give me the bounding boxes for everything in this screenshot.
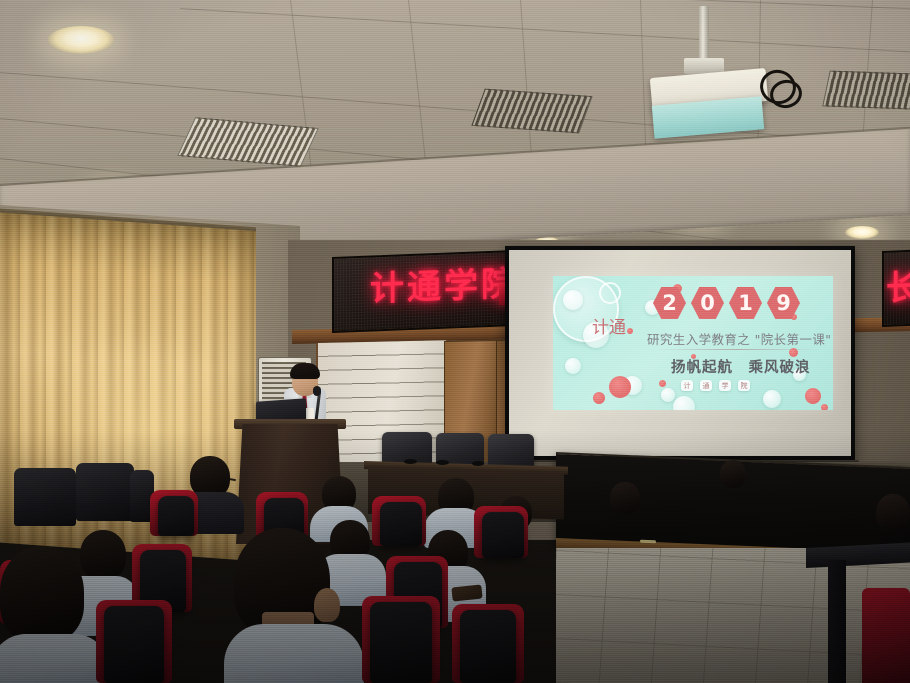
audience-seat-foreground (460, 610, 516, 683)
audience-head (876, 494, 910, 532)
led-banner-right-text: 长 (886, 260, 910, 310)
ceiling-downlight (845, 226, 879, 239)
ceiling-air-grille (471, 89, 592, 134)
slide-dot: 学 (719, 380, 731, 391)
year-digit: 9 (767, 286, 800, 320)
ceiling-air-grille (822, 71, 910, 110)
year-digit: 2 (653, 286, 686, 320)
back-row-chair (76, 463, 134, 521)
audience-head (610, 482, 640, 514)
year-digit: 1 (729, 286, 762, 320)
audience-seat (158, 496, 194, 536)
auditorium-photo: 计通学院20 长 计通 2 0 1 9 (0, 0, 910, 683)
slide-divider (657, 349, 817, 350)
college-logo-text: 计通 (591, 316, 627, 340)
slide-dot: 院 (738, 380, 750, 391)
projector-mount-rod (699, 6, 709, 60)
slide-subtitle: 研究生入学教育之 "院长第一课" (647, 329, 827, 348)
side-seat (862, 588, 910, 683)
side-desk-leg (828, 560, 846, 683)
tiled-floor (556, 548, 910, 683)
slide-dot: 计 (681, 380, 693, 391)
audience-head-foreground (0, 546, 84, 642)
ceiling-downlight (48, 26, 114, 54)
slide-dot: 通 (700, 380, 712, 391)
led-banner-right: 长 (882, 250, 910, 327)
year-digit: 0 (691, 286, 724, 320)
audience-seat-foreground (104, 606, 164, 683)
presenter-glasses (293, 377, 317, 384)
audience-torso-foreground (0, 634, 110, 683)
chalk-piece (640, 540, 656, 544)
desk-microphone (472, 461, 484, 466)
audience-seat (482, 512, 524, 558)
year-hexagons: 2 0 1 9 (653, 286, 800, 320)
podium-microphone-head (313, 386, 321, 396)
desk-microphone (436, 460, 449, 465)
slide-slogan: 扬帆起航 乘风破浪 (671, 356, 821, 377)
audience-seat (380, 502, 422, 546)
audience-hand (314, 588, 340, 622)
desk-microphone (404, 459, 417, 464)
audience-head (80, 530, 126, 580)
audience-seat-foreground (370, 602, 432, 683)
presentation-slide: 计通 2 0 1 9 研究生入学教育之 "院长第一课" 扬帆起航 乘风破浪 计 … (553, 276, 833, 410)
back-row-chair (14, 468, 76, 526)
audience-torso-foreground (224, 624, 364, 683)
audience-head (720, 460, 746, 488)
slide-dot-row: 计 通 学 院 (681, 380, 750, 391)
